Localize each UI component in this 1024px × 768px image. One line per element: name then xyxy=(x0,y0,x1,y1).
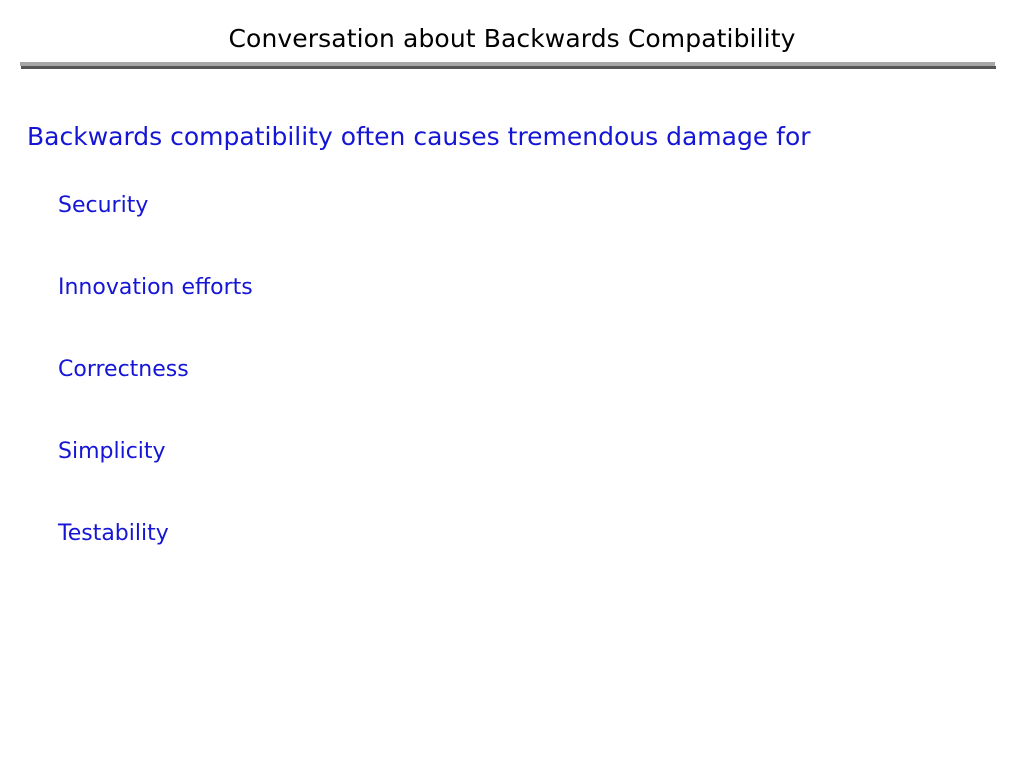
lead-statement: Backwards compatibility often causes tre… xyxy=(27,121,811,153)
divider-dark-band xyxy=(21,66,996,69)
list-item: Testability xyxy=(58,520,253,602)
list-item: Innovation efforts xyxy=(58,274,253,356)
title-divider xyxy=(20,62,995,69)
list-item-label: Testability xyxy=(58,520,169,548)
list-item-label: Simplicity xyxy=(58,438,166,466)
list-item-label: Security xyxy=(58,192,148,220)
slide-body: Backwards compatibility often causes tre… xyxy=(0,110,1024,710)
list-item-label: Correctness xyxy=(58,356,189,384)
list-item: Simplicity xyxy=(58,438,253,520)
slide: Conversation about Backwards Compatibili… xyxy=(0,0,1024,768)
list-item-label: Innovation efforts xyxy=(58,274,253,302)
bullet-list: Security Innovation efforts Correctness … xyxy=(58,192,253,602)
page-title: Conversation about Backwards Compatibili… xyxy=(0,24,1024,54)
list-item: Correctness xyxy=(58,356,253,438)
list-item: Security xyxy=(58,192,253,274)
